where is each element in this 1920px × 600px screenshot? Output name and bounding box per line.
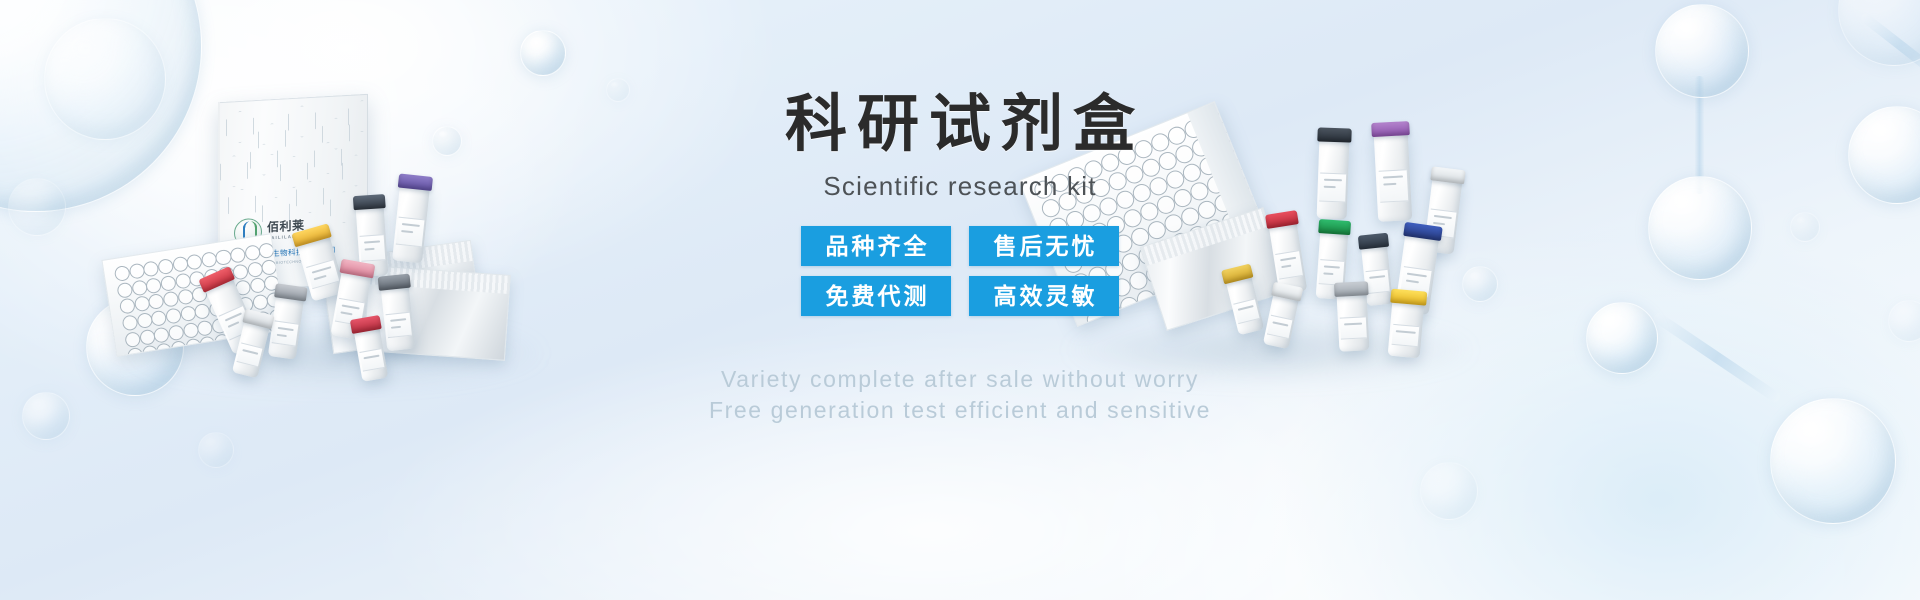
vial-cap: [378, 274, 411, 291]
page-subtitle: Scientific research kit: [560, 171, 1360, 202]
water-droplet-icon: [1586, 302, 1658, 374]
reagent-vial: [1388, 300, 1425, 359]
water-droplet-icon: [198, 432, 234, 468]
vial-cap: [1430, 166, 1465, 184]
tagline-line: Free generation test efficient and sensi…: [560, 395, 1360, 426]
tagline-block: Variety complete after sale without worr…: [560, 364, 1360, 427]
water-droplet-icon: [1790, 212, 1820, 242]
vial-label: [1366, 269, 1390, 294]
vial-label: [360, 348, 385, 371]
tagline-line: Variety complete after sale without worr…: [560, 364, 1360, 395]
vial-label: [272, 320, 299, 346]
product-group-left: 佰利莱 BAILILAI BIOLOGY 上海佰利莱生物科技有限公司 SHANG…: [90, 90, 570, 380]
vial-cap: [1358, 233, 1389, 250]
vial-label: [306, 259, 340, 288]
water-droplet-icon: [1648, 176, 1752, 280]
banner-copy: 科研试剂盒 Scientific research kit 品种齐全 售后无忧 …: [560, 92, 1360, 427]
molecule-bond: [1652, 311, 1783, 404]
vial-cap: [398, 173, 433, 190]
water-droplet-icon: [1770, 398, 1896, 524]
vial-label: [360, 235, 385, 262]
molecule-bond: [1859, 12, 1920, 79]
vial-label: [1378, 169, 1408, 202]
vial-cap: [353, 194, 386, 210]
water-droplet-icon: [1655, 4, 1749, 98]
feature-badge-list: 品种齐全 售后无忧 免费代测 高效灵敏: [795, 226, 1125, 316]
vial-cap: [1390, 289, 1427, 306]
vial-cap: [1371, 121, 1410, 137]
page-title: 科研试剂盒: [560, 92, 1360, 157]
vial-label: [1391, 323, 1420, 346]
molecule-bond: [1694, 76, 1705, 194]
vial-label: [386, 312, 412, 338]
feature-badge[interactable]: 高效灵敏: [969, 276, 1119, 316]
reagent-vial: [1374, 132, 1413, 222]
feature-badge[interactable]: 免费代测: [801, 276, 951, 316]
hero-banner: 佰利莱 BAILILAI BIOLOGY 上海佰利莱生物科技有限公司 SHANG…: [0, 0, 1920, 600]
water-droplet-icon: [1420, 462, 1478, 520]
feature-badge[interactable]: 售后无忧: [969, 226, 1119, 266]
water-droplet-icon: [1848, 106, 1920, 204]
vial-label: [396, 217, 424, 247]
water-droplet-icon: [22, 392, 70, 440]
water-droplet-icon: [520, 30, 566, 76]
water-droplet-icon: [1888, 300, 1920, 342]
vial-label: [237, 342, 263, 367]
water-droplet-icon: [1838, 0, 1920, 66]
feature-badge[interactable]: 品种齐全: [801, 226, 951, 266]
water-droplet-icon: [8, 178, 66, 236]
